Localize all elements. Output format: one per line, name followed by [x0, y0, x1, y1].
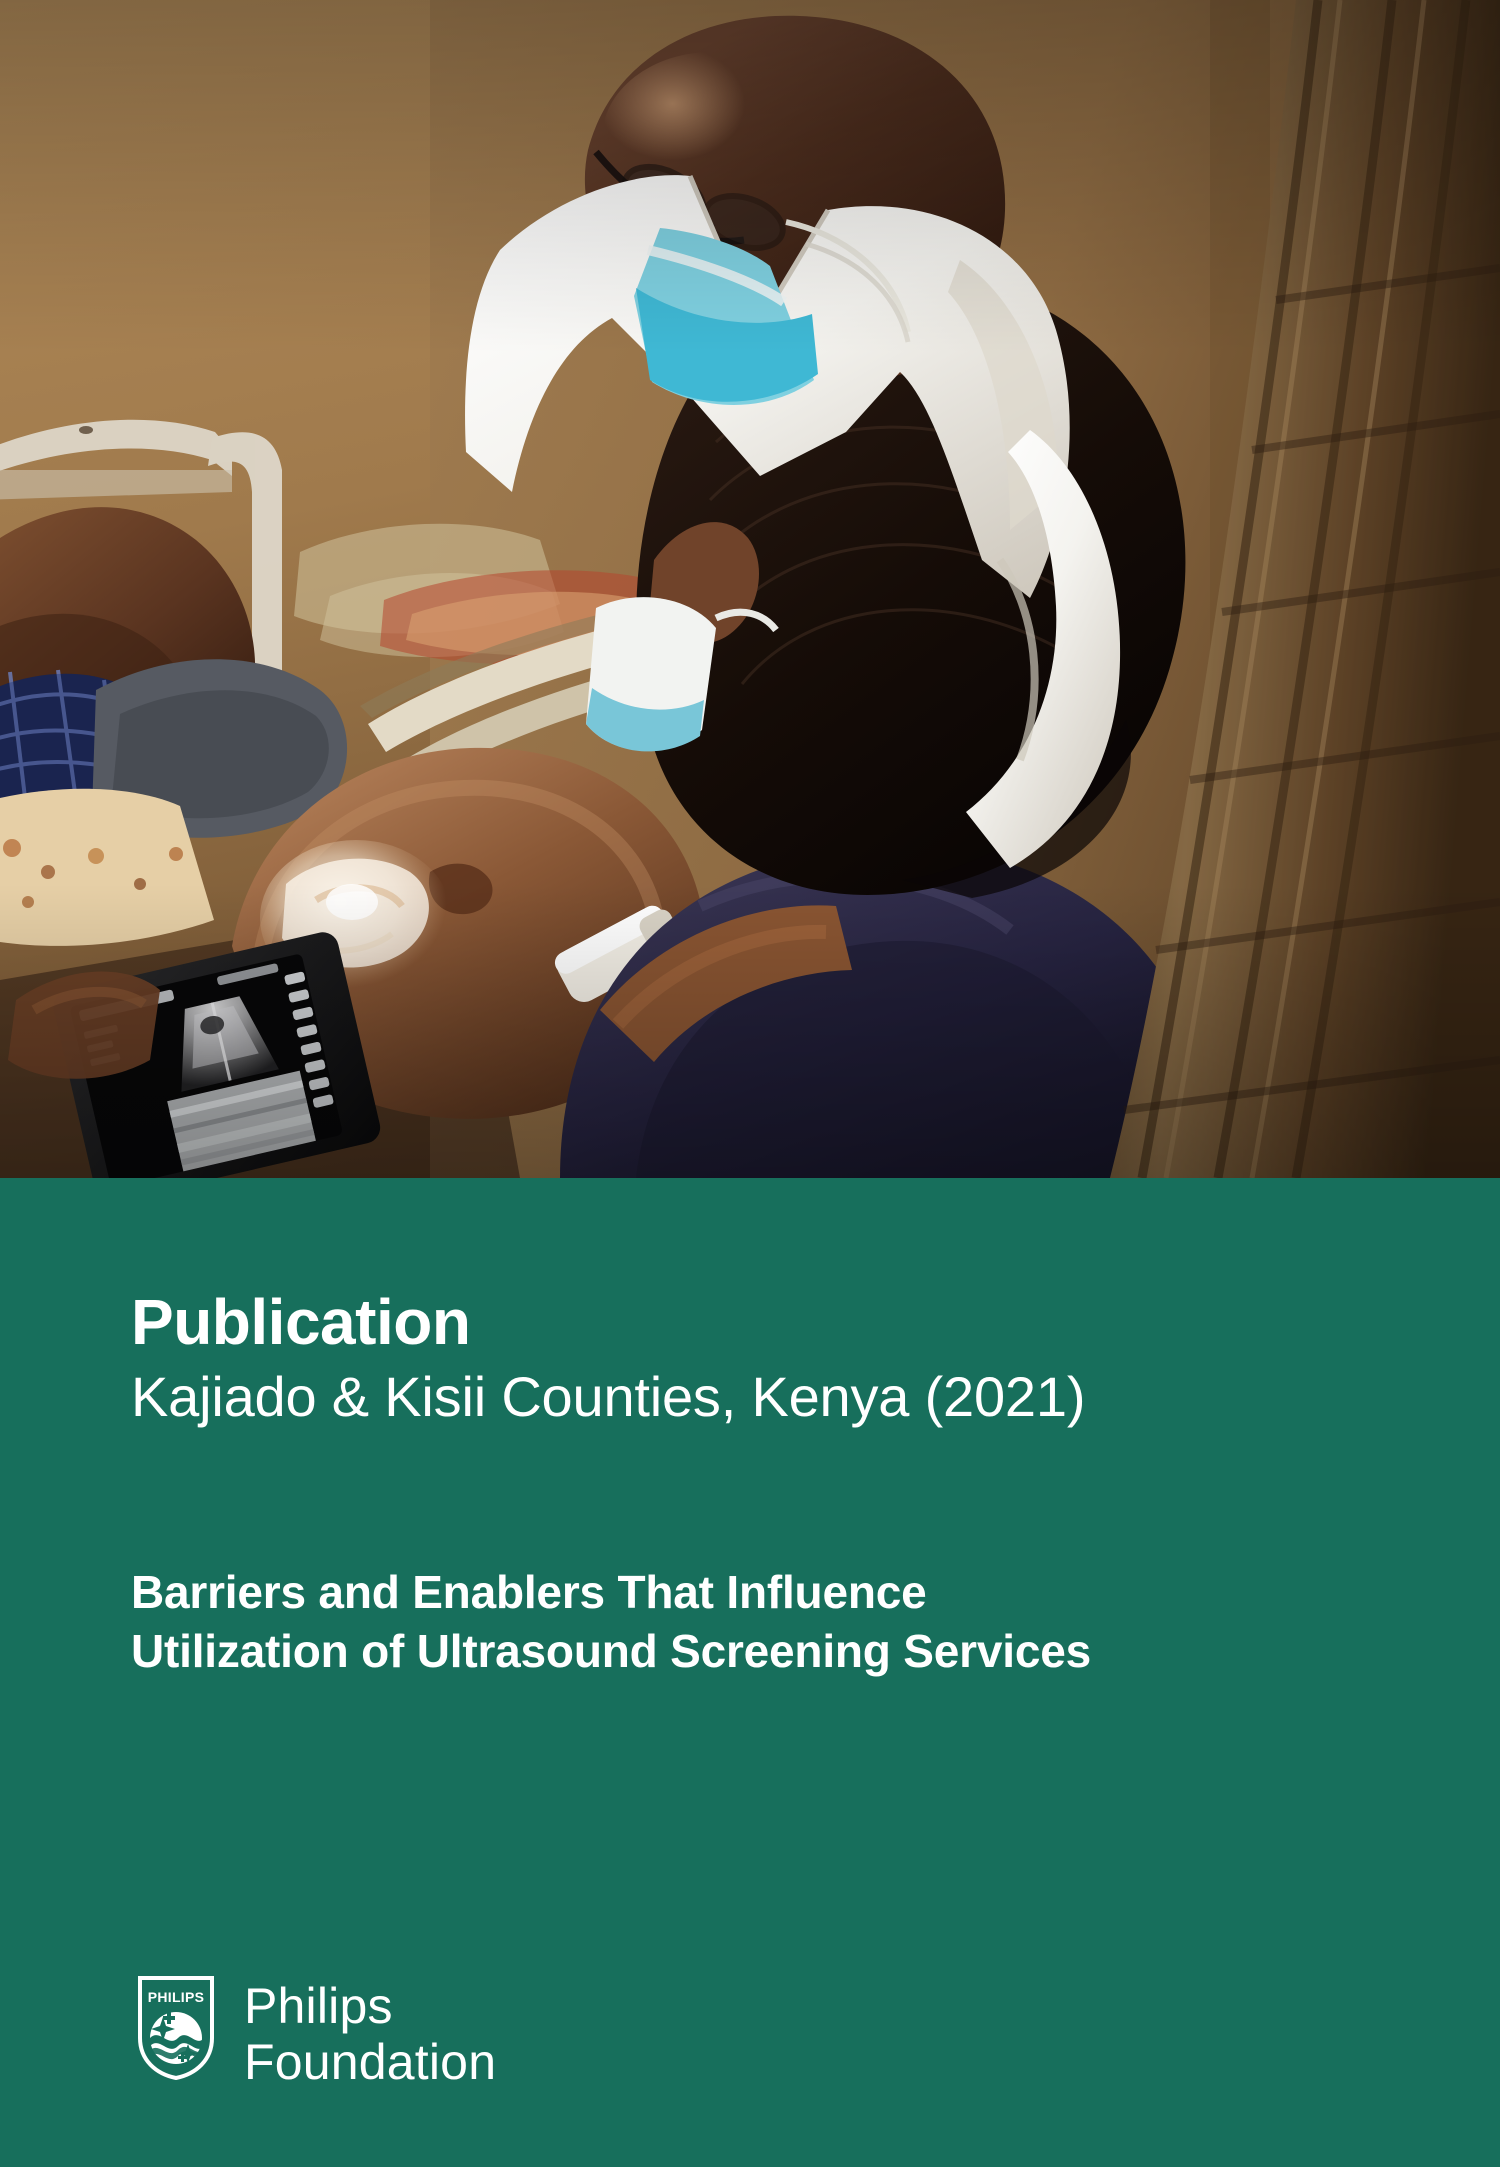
report-title: Barriers and Enablers That Influence Uti…	[131, 1563, 1091, 1681]
report-title-line-2: Utilization of Ultrasound Screening Serv…	[131, 1622, 1091, 1681]
report-title-line-1: Barriers and Enablers That Influence	[131, 1563, 1091, 1622]
philips-foundation-wordmark: Philips Foundation	[244, 1976, 496, 2090]
cover-photograph	[0, 0, 1500, 1178]
philips-shield-icon: PHILIPS	[138, 1976, 214, 2080]
wordmark-line-philips: Philips	[244, 1978, 496, 2034]
philips-foundation-logo: PHILIPS Philips	[138, 1976, 496, 2090]
wordmark-line-foundation: Foundation	[244, 2034, 496, 2090]
cover-page: Publication Kajiado & Kisii Counties, Ke…	[0, 0, 1500, 2167]
location-and-year: Kajiado & Kisii Counties, Kenya (2021)	[131, 1369, 1085, 1425]
shield-wordmark-text: PHILIPS	[148, 1989, 205, 2005]
publication-kicker: Publication	[131, 1290, 470, 1354]
